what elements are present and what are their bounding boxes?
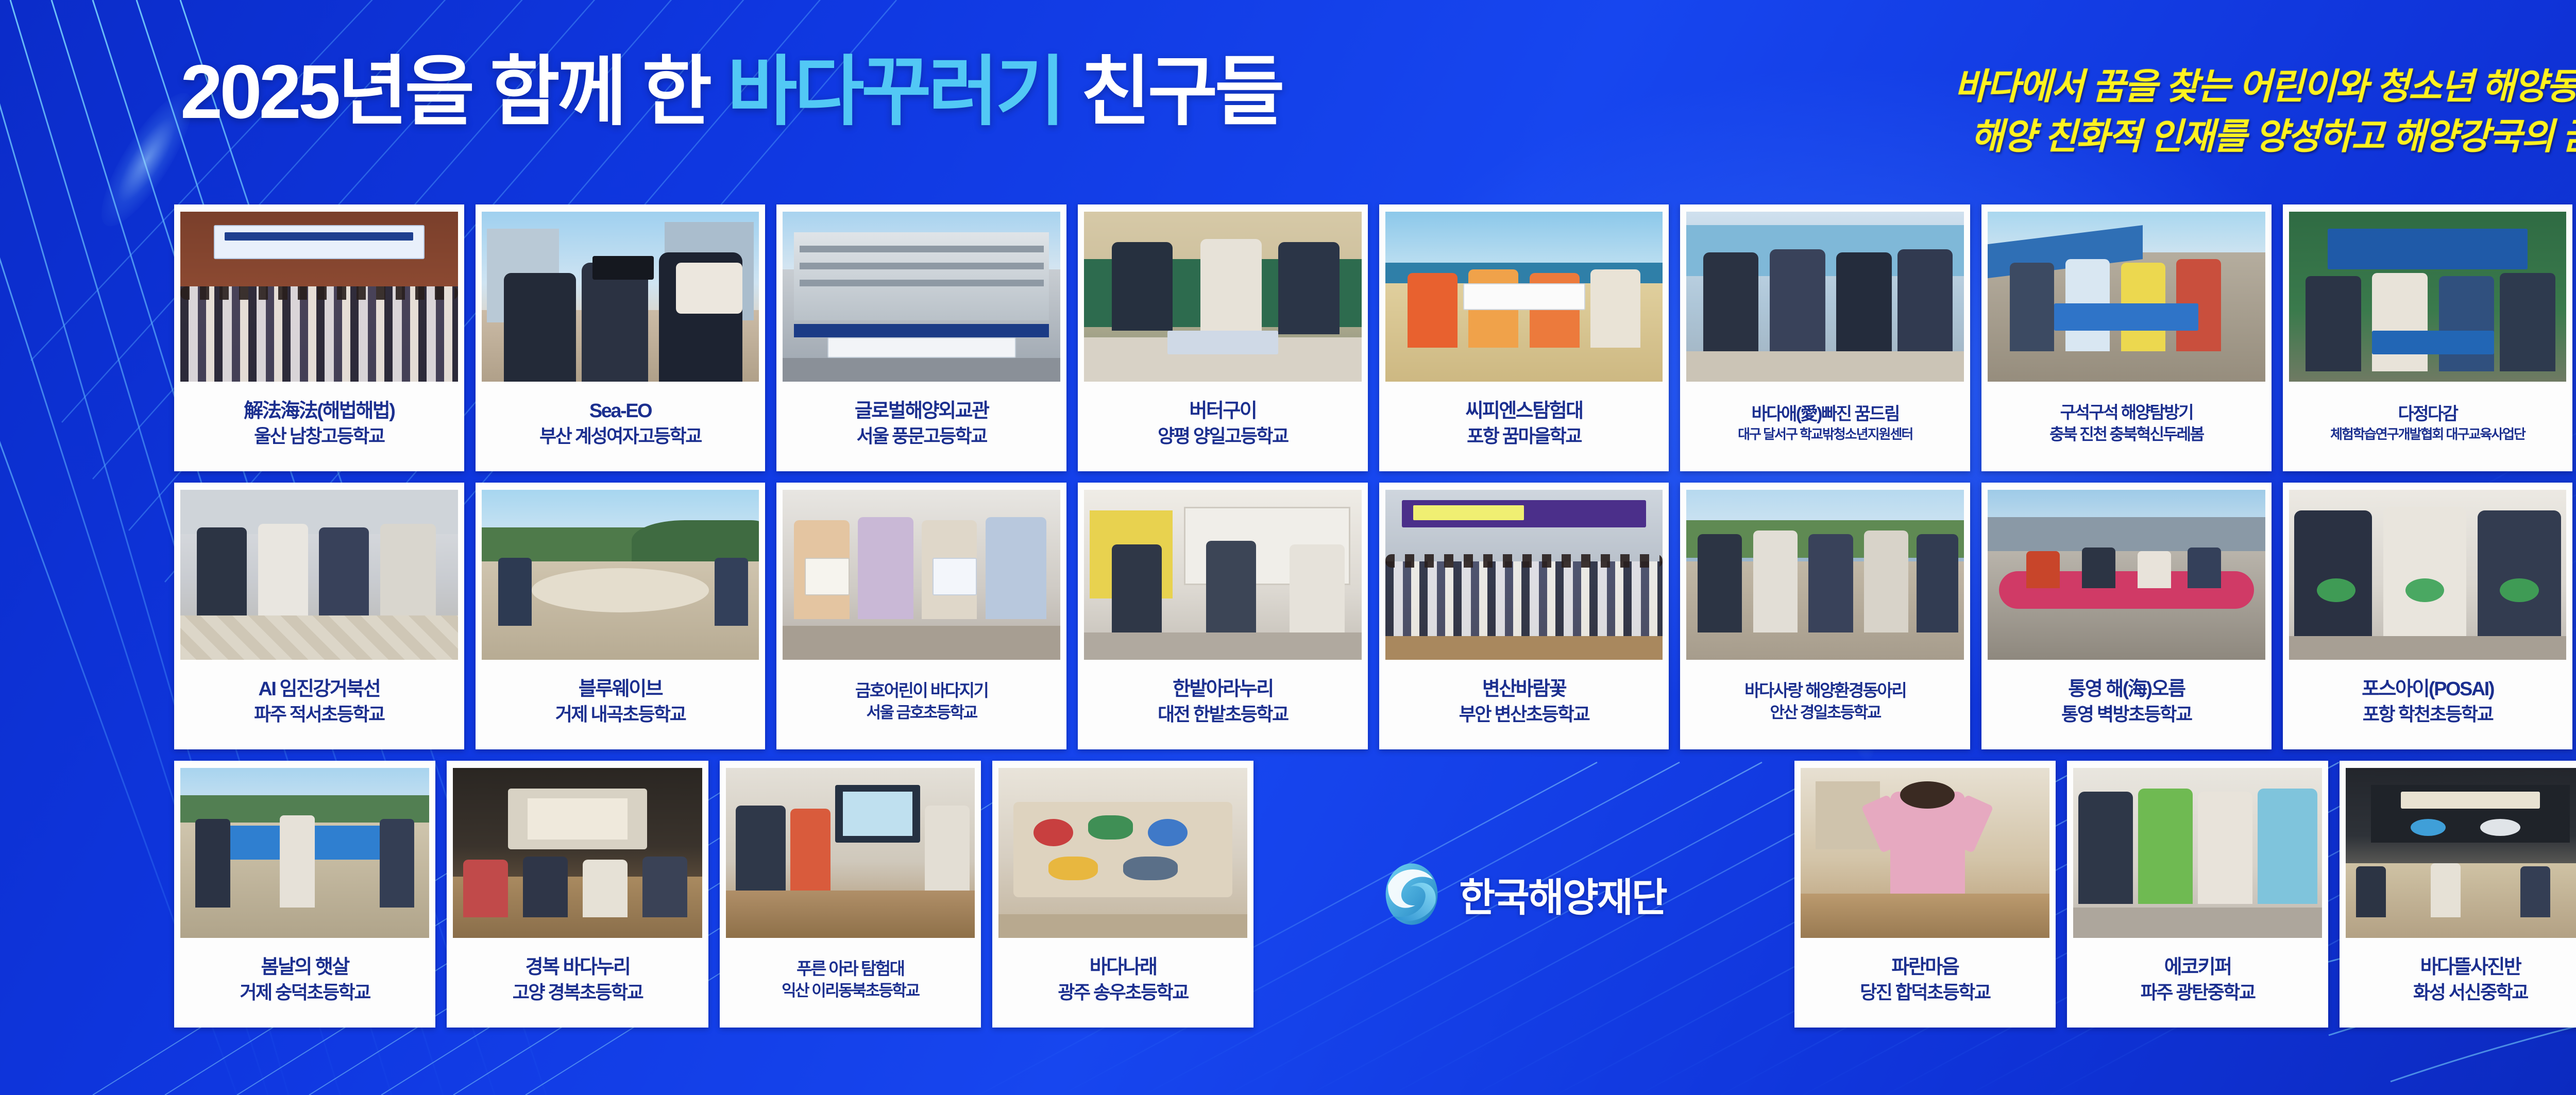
club-caption: 씨피엔스탐험대 포항 꿈마을학교 [1385,382,1663,466]
card-row-3: 봄날의 햇살 거제 숭덕초등학교 [174,761,2576,1028]
subtitle-line-2: 해양 친화적 인재를 양성하고 해양강국의 꿈을 실현합니다. [1821,112,2576,162]
club-card[interactable]: AI 임진강거북선 파주 적서초등학교 [174,483,464,749]
club-photo [2346,768,2576,938]
beach-cleanup-students [1385,212,1663,382]
club-org: 파주 적서초등학교 [254,704,384,725]
club-org: 광주 송우초등학교 [1058,982,1188,1003]
coastal-rock-scenery [482,490,759,660]
club-name: 씨피엔스탐험대 [1465,400,1582,422]
club-name: 바다나래 [1090,956,1157,979]
club-org: 울산 남창고등학교 [254,425,384,447]
group-photo-purple-banner [1385,490,1663,660]
club-name: 에코키퍼 [2164,956,2231,979]
club-caption: 구석구석 해양탐방기 충북 진천 충북혁신두레봄 [1988,382,2265,466]
club-caption: 블루웨이브 거제 내곡초등학교 [482,660,759,744]
club-caption: 봄날의 햇살 거제 숭덕초등학교 [180,938,429,1022]
club-photo [1385,490,1663,660]
club-card[interactable]: 바다애(愛)빠진 꿈드림 대구 달서구 학교밖청소년지원센터 [1680,204,1970,471]
club-photo [2073,768,2322,938]
club-org: 안산 경일초등학교 [1770,704,1880,722]
club-org: 고양 경복초등학교 [513,982,642,1003]
foundation-name: 한국해양재단 [1459,866,1666,922]
club-caption: AI 임진강거북선 파주 적서초등학교 [180,660,458,744]
title-suffix: 친구들 [1062,49,1282,134]
club-caption: 변산바람꽃 부안 변산초등학교 [1385,660,1663,744]
club-photo [1385,212,1663,382]
club-caption: 경복 바다누리 고양 경복초등학교 [453,938,702,1022]
club-name: 봄날의 햇살 [261,956,348,979]
club-card[interactable]: 봄날의 햇살 거제 숭덕초등학교 [174,761,435,1028]
club-card[interactable]: 통영 해(海)오름 통영 벽방초등학교 [1981,483,2272,749]
club-caption: 바다애(愛)빠진 꿈드림 대구 달서구 학교밖청소년지원센터 [1686,382,1964,466]
club-caption: 바다사랑 해양환경동아리 안산 경일초등학교 [1686,660,1964,744]
club-name: 변산바람꽃 [1482,678,1566,700]
club-card[interactable]: 바다사랑 해양환경동아리 안산 경일초등학교 [1680,483,1970,749]
club-card[interactable]: 한밭아라누리 대전 한밭초등학교 [1078,483,1368,749]
wave-swirl-icon [1382,862,1442,927]
mission-subtitle: 바다에서 꿈을 찾는 어린이와 청소년 해양동아리 지원을 통해 해양 친화적 … [1821,62,2576,161]
club-name: 포스아이(POSAI) [2362,678,2494,700]
club-card[interactable]: Sea-EO 부산 계성여자고등학교 [476,204,766,471]
club-org: 포항 꿈마을학교 [1467,425,1581,447]
club-name: 다정다감 [2398,404,2457,424]
child-arms-up-classroom [1801,768,2049,938]
classroom-screen-lesson [726,768,975,938]
sea-craft-table-display [998,768,1247,938]
club-photo [180,212,458,382]
club-org: 익산 이리동북초등학교 [782,982,919,1000]
page-title: 2025년을 함께 한 바다꾸러기 친구들 [180,54,1282,130]
students-eco-workshop [2073,768,2322,938]
students-outdoor-lineup [1686,490,1964,660]
club-card[interactable]: 글로벌해양외교관 서울 풍문고등학교 [776,204,1066,471]
club-photo [1686,212,1964,382]
club-card-grid: 解法海法(해법해법) 울산 남창고등학교 [174,204,2576,1039]
classroom-presentation [1084,490,1362,660]
club-card[interactable]: 포스아이(POSAI) 포항 학천초등학교 [2283,483,2573,749]
club-card[interactable]: 파란마음 당진 합덕초등학교 [1794,761,2056,1028]
club-caption: 에코키퍼 파주 광탄중학교 [2073,938,2322,1022]
club-org: 대구 달서구 학교밖청소년지원센터 [1738,427,1912,442]
club-caption: 다정다감 체험학습연구개발협회 대구교육사업단 [2289,382,2567,466]
outdoor-group-tent [1988,212,2265,382]
club-org: 거제 숭덕초등학교 [240,982,369,1003]
banner-header: 2025년을 함께 한 바다꾸러기 친구들 바다에서 꿈을 찾는 어린이와 청소… [0,0,2576,206]
club-photo [726,768,975,938]
club-org: 당진 합덕초등학교 [1860,982,1990,1003]
club-org: 통영 벽방초등학교 [2061,704,2191,725]
club-name: 버터구이 [1189,400,1256,422]
beach-mural-painting [2346,768,2576,938]
club-photo [180,490,458,660]
club-caption: 글로벌해양외교관 서울 풍문고등학교 [783,382,1060,466]
students-filming-camera [482,212,759,382]
foundation-logo: 한국해양재단 [1265,761,1783,1028]
club-caption: 한밭아라누리 대전 한밭초등학교 [1084,660,1362,744]
group-photo-indoor-ceremony [180,212,458,382]
card-row-2: AI 임진강거북선 파주 적서초등학교 [174,483,2576,749]
club-card[interactable]: 에코키퍼 파주 광탄중학교 [2067,761,2328,1028]
club-caption: 파란마음 당진 합덕초등학교 [1801,938,2049,1022]
club-name: 한밭아라누리 [1173,678,1273,700]
club-name: 푸른 아라 탐험대 [796,960,904,979]
club-photo [1988,490,2265,660]
students-indoor-banner [1686,212,1964,382]
club-org: 포항 학천초등학교 [2363,704,2493,725]
club-photo [1801,768,2049,938]
club-caption: 解法海法(해법해법) 울산 남창고등학교 [180,382,458,466]
club-card[interactable]: 블루웨이브 거제 내곡초등학교 [476,483,766,749]
club-org: 체험학습연구개발협회 대구교육사업단 [2330,427,2525,442]
club-caption: Sea-EO 부산 계성여자고등학교 [482,382,759,466]
club-org: 서울 풍문고등학교 [856,425,986,447]
event-banner: 2025년을 함께 한 바다꾸러기 친구들 바다에서 꿈을 찾는 어린이와 청소… [0,0,2576,1095]
club-org: 화성 서신중학교 [2413,982,2528,1003]
card-row-1: 解法海法(해법해법) 울산 남창고등학교 [174,204,2576,471]
club-caption: 포스아이(POSAI) 포항 학천초등학교 [2289,660,2567,744]
club-name: 금호어린이 바다지기 [855,681,988,700]
children-holding-posters [783,490,1060,660]
club-name: 경복 바다누리 [526,956,630,979]
club-photo [783,490,1060,660]
beach-group-banner [180,768,429,938]
rowing-boat-team [1988,490,2265,660]
club-photo [482,490,759,660]
club-photo [783,212,1060,382]
club-card[interactable]: 바다뜰사진반 화성 서신중학교 [2340,761,2576,1028]
club-photo [1686,490,1964,660]
club-org: 충북 진천 충북혁신두레봄 [2049,425,2203,444]
club-caption: 푸른 아라 탐험대 익산 이리동북초등학교 [726,938,975,1022]
club-caption: 버터구이 양평 양일고등학교 [1084,382,1362,466]
club-card[interactable]: 구석구석 해양탐방기 충북 진천 충북혁신두레봄 [1981,204,2272,471]
club-name: 바다애(愛)빠진 꿈드림 [1752,404,1899,424]
club-photo [482,212,759,382]
club-photo [180,768,429,938]
title-highlight: 바다꾸러기 [727,49,1062,134]
club-caption: 바다나래 광주 송우초등학교 [998,938,1247,1022]
classroom-booth-activity [1084,212,1362,382]
club-photo [2289,212,2567,382]
club-card[interactable]: 버터구이 양평 양일고등학교 [1078,204,1368,471]
club-card[interactable]: 씨피엔스탐험대 포항 꿈마을학교 [1379,204,1669,471]
auditorium-performance [453,768,702,938]
club-card[interactable]: 다정다감 체험학습연구개발협회 대구교육사업단 [2283,204,2573,471]
club-name: 구석구석 해양탐방기 [2060,403,2193,422]
club-card[interactable]: 解法海法(해법해법) 울산 남창고등학교 [174,204,464,471]
club-name: 글로벌해양외교관 [855,400,989,422]
club-org: 양평 양일고등학교 [1158,425,1287,447]
modern-building-exterior [783,212,1060,382]
students-with-plants [2289,490,2567,660]
club-card[interactable]: 푸른 아라 탐험대 익산 이리동북초등학교 [720,761,981,1028]
subtitle-line-1: 바다에서 꿈을 찾는 어린이와 청소년 해양동아리 지원을 통해 [1821,62,2576,112]
club-name: AI 임진강거북선 [258,678,380,700]
club-org: 서울 금호초등학교 [867,704,977,722]
club-org: 거제 내곡초등학교 [555,704,685,725]
exhibition-green-backdrop [2289,212,2567,382]
club-card[interactable]: 바다나래 광주 송우초등학교 [992,761,1253,1028]
club-caption: 통영 해(海)오름 통영 벽방초등학교 [1988,660,2265,744]
club-photo [453,768,702,938]
club-caption: 금호어린이 바다지기 서울 금호초등학교 [783,660,1060,744]
club-name: 블루웨이브 [579,678,662,700]
club-name: Sea-EO [589,400,651,422]
club-org: 대전 한밭초등학교 [1158,704,1287,725]
club-name: 파란마음 [1891,956,1958,979]
club-name: 바다사랑 해양환경동아리 [1744,681,1906,700]
club-caption: 바다뜰사진반 화성 서신중학교 [2346,938,2576,1022]
students-gym-activity [180,490,458,660]
club-photo [1988,212,2265,382]
club-org: 파주 광탄중학교 [2141,982,2255,1003]
title-prefix: 2025년을 함께 한 [180,49,727,134]
club-photo [2289,490,2567,660]
club-card[interactable]: 변산바람꽃 부안 변산초등학교 [1379,483,1669,749]
club-org: 부산 계성여자고등학교 [539,425,701,447]
club-name: 바다뜰사진반 [2420,956,2521,979]
club-photo [1084,490,1362,660]
club-photo [1084,212,1362,382]
club-org: 부안 변산초등학교 [1459,704,1589,725]
club-name: 解法海法(해법해법) [244,400,394,422]
club-name: 통영 해(海)오름 [2068,678,2184,700]
club-card[interactable]: 금호어린이 바다지기 서울 금호초등학교 [776,483,1066,749]
club-photo [998,768,1247,938]
club-card[interactable]: 경복 바다누리 고양 경복초등학교 [447,761,708,1028]
